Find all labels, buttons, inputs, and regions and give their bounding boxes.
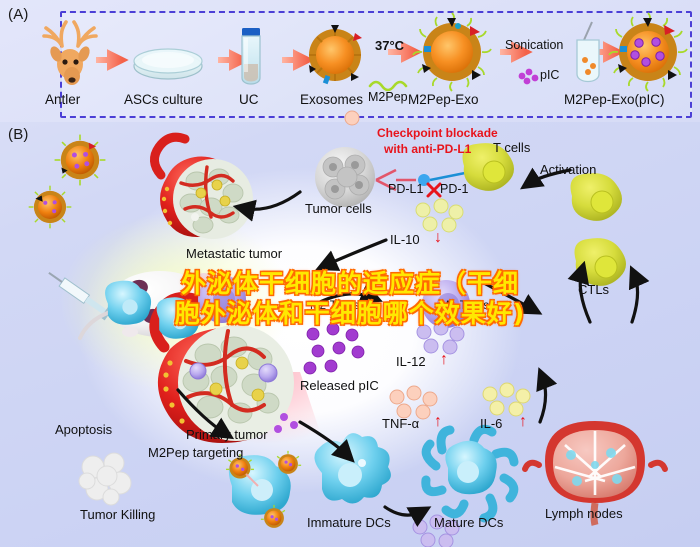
il-12-arrow: ↑ — [440, 351, 448, 369]
step-label-uc: UC — [239, 92, 259, 107]
il-6-label: IL-6 — [480, 416, 502, 431]
deer-antler-icon — [44, 22, 96, 85]
free-exosome-icon — [29, 186, 72, 229]
apoptosis-label: Apoptosis — [55, 422, 112, 437]
il-10-arrow: ↓ — [434, 229, 442, 247]
lymph-nodes-label: Lymph nodes — [545, 506, 623, 521]
step-label-antler: Antler — [45, 92, 80, 107]
exosome-icon — [309, 25, 362, 84]
mature-dc-icon — [426, 429, 514, 518]
primary-tumor-label: Primary tumor — [186, 427, 268, 442]
il-12-cluster-icon — [417, 321, 464, 354]
panel-b: (B) — [0, 122, 700, 547]
sonication-annotation: Sonication — [505, 38, 563, 52]
pic-dots-icon — [519, 69, 539, 85]
metastatic-tumor-label: Metastatic tumor — [186, 246, 282, 261]
arrow-m1-to-ln — [482, 282, 534, 310]
metastatic-tumor-icon — [154, 137, 253, 239]
pic-annotation: pIC — [540, 68, 559, 82]
ctls-label: CTLs — [578, 282, 609, 297]
tnf-alpha-label: TNF-α — [382, 416, 419, 431]
panel-b-graphics — [0, 122, 700, 547]
released-pic-label: Released pIC — [300, 378, 379, 393]
petri-dish-icon — [134, 49, 202, 79]
tumor-cells-label: Tumor cells — [305, 201, 372, 216]
pd-1-label: PD-1 — [440, 182, 468, 196]
m1-tams-label: M1-TAMs — [440, 300, 489, 312]
t-cells-label: T cells — [493, 140, 530, 155]
il-10-particles-icon — [416, 199, 463, 232]
arrow-dc-maturation — [385, 507, 423, 515]
m2pep-targeting-label: M2Pep targeting — [148, 445, 243, 460]
ctl-cell-icon — [571, 173, 623, 221]
panel-a: (A) — [0, 0, 700, 122]
checkpoint-blockade-line1: Checkpoint blockade — [377, 126, 498, 140]
centrifuge-tube-icon — [242, 28, 260, 84]
immature-dc-icon — [314, 433, 390, 503]
free-exosome-icon — [55, 135, 106, 186]
tumor-killing-label: Tumor Killing — [80, 507, 155, 522]
tumor-cells-icon — [315, 147, 375, 207]
m2-tams-label: M2-TAMs — [310, 300, 359, 312]
released-pic-icon — [304, 323, 364, 374]
immature-dcs-label: Immature DCs — [307, 515, 391, 530]
temperature-annotation: 37°C — [375, 38, 404, 53]
m2pep-squiggle-icon — [370, 82, 406, 90]
ctl-cell-icon — [575, 238, 627, 286]
step-label-m2pep-exo-pic: M2Pep-Exo(pIC) — [564, 92, 665, 107]
tnf-particles-icon — [390, 386, 437, 419]
il-10-label: IL-10 — [390, 232, 420, 247]
scientific-figure: (A) — [0, 0, 700, 547]
loaded-exosome-icon — [609, 13, 687, 91]
il-12-label: IL-12 — [396, 354, 426, 369]
arrow-dc-to-ln — [540, 376, 546, 422]
sonicator-icon — [577, 22, 599, 82]
tnf-alpha-arrow: ↑ — [434, 413, 442, 431]
peptide-exosome-icon — [413, 13, 491, 91]
il-6-arrow: ↑ — [519, 413, 527, 431]
m2pep-targeting-icon — [226, 451, 301, 528]
arrow-to-m2tam — [324, 240, 386, 266]
pd-l1-label: PD-L1 — [388, 182, 423, 196]
checkpoint-blockade-line2: with anti-PD-L1 — [384, 142, 471, 156]
m2-tam-icon — [198, 275, 246, 323]
mature-dcs-label: Mature DCs — [434, 515, 503, 530]
step-label-m2pep-exo: M2Pep-Exo — [408, 92, 479, 107]
m2pep-annotation: M2Pep — [368, 90, 408, 104]
apoptotic-tumor-icon — [79, 453, 131, 505]
tnf-alpha-particles-icon — [345, 111, 359, 125]
arrow-ln-to-ctl-right — [632, 274, 638, 322]
il-6-particles-icon — [483, 383, 530, 416]
step-label-exosomes: Exosomes — [300, 92, 363, 107]
step-label-ascs: ASCs culture — [124, 92, 203, 107]
activation-label: Activation — [540, 162, 596, 177]
